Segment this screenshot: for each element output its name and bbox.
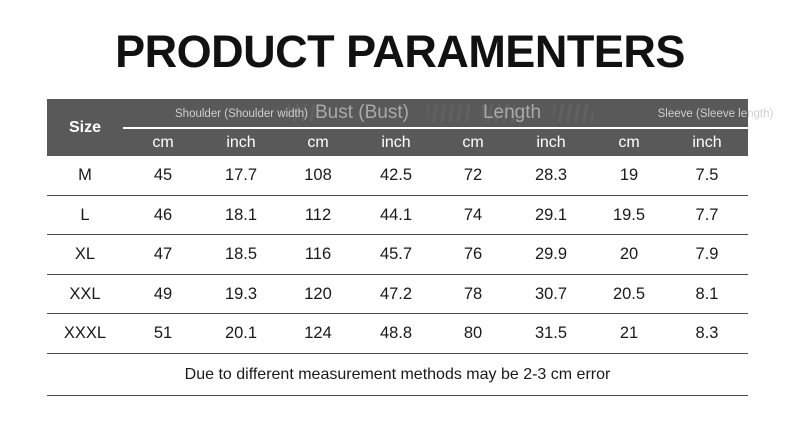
cell-sleeve-cm: 20.5 [590,275,668,314]
cell-shoulder-cm: 47 [124,235,202,274]
table-row: M 45 17.7 108 42.5 72 28.3 19 7.5 [47,156,748,196]
cell-sleeve-cm: 20 [590,235,668,274]
cell-bust-inch: 44.1 [357,196,435,235]
cell-shoulder-cm: 46 [124,196,202,235]
header-size-label: Size [47,99,123,156]
header-unit-sleeve-inch: inch [668,131,746,155]
header-unit-bust-inch: inch [357,131,435,155]
header-group-bust: Bust (Bust) [277,102,447,124]
cell-sleeve-inch: 8.1 [668,275,746,314]
cell-shoulder-inch: 17.7 [202,156,280,195]
cell-shoulder-inch: 19.3 [202,275,280,314]
cell-shoulder-cm: 51 [124,314,202,353]
header-group-length: Length [437,102,587,124]
table-header: Size Shoulder (Shoulder width) Bust (Bus… [47,99,748,156]
cell-size: L [47,196,123,235]
cell-bust-cm: 112 [279,196,357,235]
table-row: L 46 18.1 112 44.1 74 29.1 19.5 7.7 [47,196,748,236]
cell-bust-inch: 47.2 [357,275,435,314]
cell-bust-inch: 42.5 [357,156,435,195]
cell-length-inch: 31.5 [512,314,590,353]
table-row: XXXL 51 20.1 124 48.8 80 31.5 21 8.3 [47,314,748,353]
cell-sleeve-cm: 19 [590,156,668,195]
cell-shoulder-cm: 45 [124,156,202,195]
table-row: XL 47 18.5 116 45.7 76 29.9 20 7.9 [47,235,748,275]
table-row: XXL 49 19.3 120 47.2 78 30.7 20.5 8.1 [47,275,748,315]
cell-sleeve-cm: 21 [590,314,668,353]
cell-bust-cm: 120 [279,275,357,314]
header-unit-length-inch: inch [512,131,590,155]
cell-length-inch: 30.7 [512,275,590,314]
cell-shoulder-inch: 18.1 [202,196,280,235]
cell-bust-inch: 48.8 [357,314,435,353]
cell-length-cm: 78 [434,275,512,314]
header-unit-shoulder-inch: inch [202,131,280,155]
cell-sleeve-inch: 7.9 [668,235,746,274]
header-group-sleeve: Sleeve (Sleeve length) [603,106,800,123]
cell-sleeve-inch: 7.7 [668,196,746,235]
cell-size: XXXL [47,314,123,353]
cell-bust-cm: 124 [279,314,357,353]
cell-length-inch: 29.9 [512,235,590,274]
cell-size: XL [47,235,123,274]
cell-length-cm: 80 [434,314,512,353]
page-title: PRODUCT PARAMENTERS [0,26,800,78]
cell-size: XXL [47,275,123,314]
cell-bust-inch: 45.7 [357,235,435,274]
size-chart-table: Size Shoulder (Shoulder width) Bust (Bus… [47,99,748,396]
header-unit-sleeve-cm: cm [590,131,668,155]
cell-length-inch: 28.3 [512,156,590,195]
cell-length-cm: 76 [434,235,512,274]
table-body: M 45 17.7 108 42.5 72 28.3 19 7.5 L 46 1… [47,156,748,353]
header-divider-rule [123,127,748,129]
cell-sleeve-inch: 7.5 [668,156,746,195]
cell-length-cm: 74 [434,196,512,235]
cell-sleeve-inch: 8.3 [668,314,746,353]
cell-size: M [47,156,123,195]
cell-sleeve-cm: 19.5 [590,196,668,235]
cell-bust-cm: 108 [279,156,357,195]
header-unit-bust-cm: cm [279,131,357,155]
cell-bust-cm: 116 [279,235,357,274]
header-unit-shoulder-cm: cm [124,131,202,155]
cell-shoulder-inch: 20.1 [202,314,280,353]
cell-shoulder-cm: 49 [124,275,202,314]
cell-length-cm: 72 [434,156,512,195]
measurement-disclaimer: Due to different measurement methods may… [47,353,748,396]
header-unit-length-cm: cm [434,131,512,155]
cell-shoulder-inch: 18.5 [202,235,280,274]
cell-length-inch: 29.1 [512,196,590,235]
